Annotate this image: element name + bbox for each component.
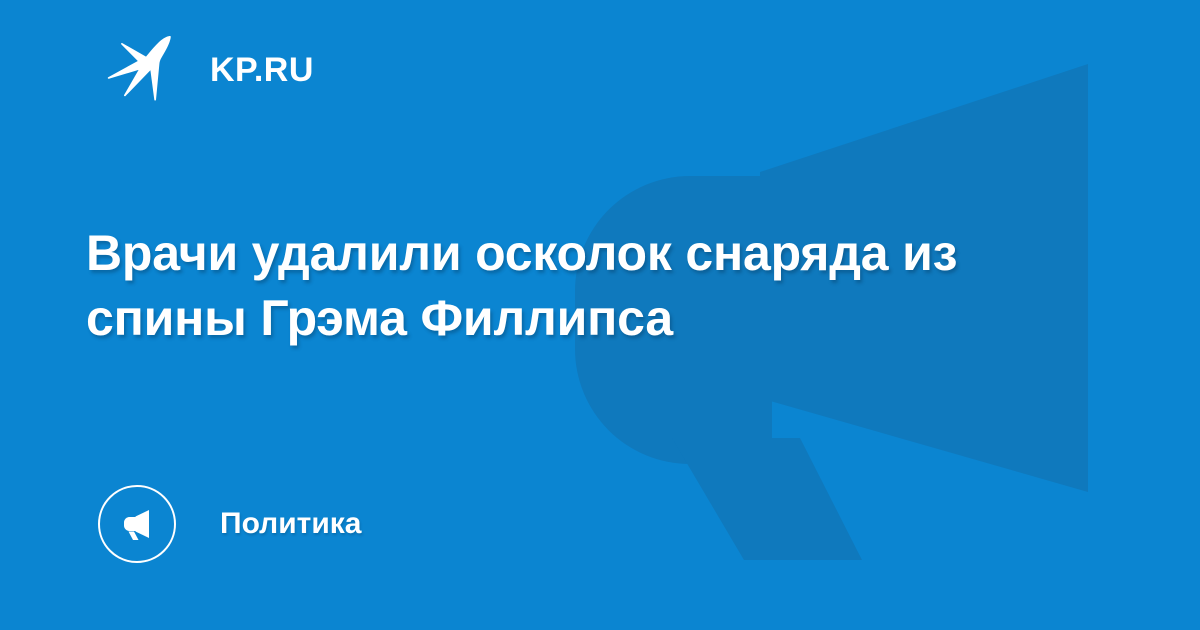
brand-name: KP.RU bbox=[210, 53, 314, 87]
social-share-card: KP.RU Врачи удалили осколок снаряда из с… bbox=[0, 0, 1200, 630]
category-label: Политика bbox=[220, 509, 361, 539]
swallow-bird-icon bbox=[104, 34, 178, 106]
category-badge[interactable]: Политика bbox=[98, 485, 361, 563]
brand-header[interactable]: KP.RU bbox=[104, 34, 314, 106]
page-title: Врачи удалили осколок снаряда из спины Г… bbox=[86, 221, 1066, 351]
megaphone-icon bbox=[98, 485, 176, 563]
